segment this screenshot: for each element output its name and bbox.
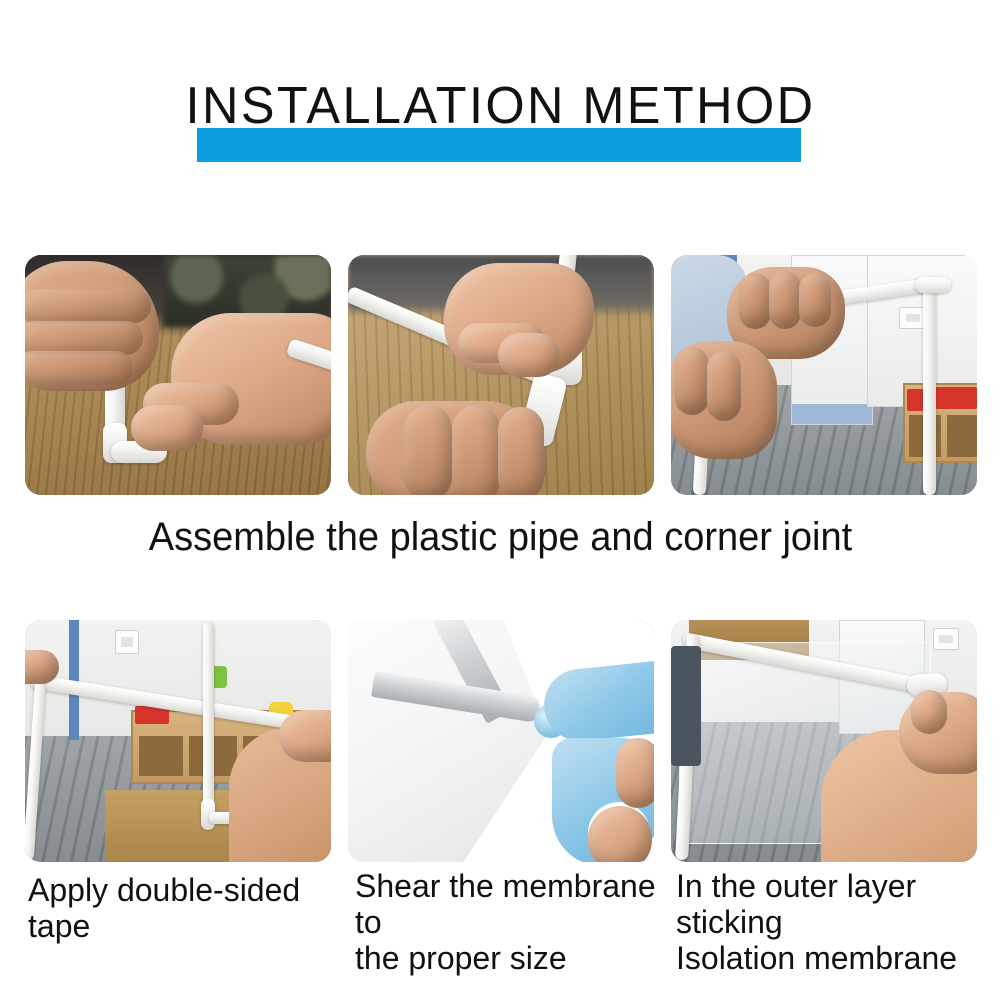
finger: [675, 347, 709, 415]
membrane-sheet: [348, 620, 548, 862]
cabinet-trim: [792, 404, 872, 424]
step-6-caption: In the outer layer sticking Isolation me…: [676, 868, 996, 976]
step-5-photo: [348, 620, 654, 862]
finger: [498, 407, 544, 495]
page-header: INSTALLATION METHOD: [0, 60, 1001, 180]
step-3-photo: [671, 255, 977, 495]
frame-vertical-post: [203, 622, 214, 810]
step-6-caption-line-1: In the outer layer sticking: [676, 868, 996, 940]
finger: [25, 351, 133, 385]
step-4-caption: Apply double-sided tape: [28, 872, 348, 944]
finger: [707, 351, 741, 421]
wall-socket: [115, 630, 139, 654]
step-5-caption-line-2: the proper size: [355, 940, 665, 976]
finger: [452, 405, 500, 495]
finger: [739, 273, 771, 329]
thumb: [588, 806, 652, 862]
right-hand: [279, 710, 331, 762]
step-5-caption-line-1: Shear the membrane to: [355, 868, 665, 940]
finger: [25, 289, 151, 323]
step-4-photo: [25, 620, 331, 862]
left-hand: [25, 650, 59, 684]
shelf-cell: [139, 736, 183, 776]
finger: [616, 738, 654, 808]
finger: [404, 405, 452, 495]
finger: [769, 271, 801, 329]
step-1-photo: [25, 255, 331, 495]
thumb: [911, 690, 947, 734]
dark-fabric: [671, 646, 701, 766]
shelf-cell: [947, 415, 977, 457]
page-title: INSTALLATION METHOD: [15, 60, 986, 152]
step-5-caption: Shear the membrane to the proper size: [355, 868, 665, 976]
thumb: [131, 405, 203, 451]
scissor-handle-upper: [541, 659, 654, 744]
step-4-caption-line-1: Apply double-sided tape: [28, 872, 348, 944]
frame-corner-joint: [915, 277, 951, 293]
frame-vertical-post: [923, 283, 936, 495]
wall-socket: [933, 628, 959, 650]
step-6-caption-line-2: Isolation membrane: [676, 940, 996, 976]
finger: [799, 273, 831, 327]
thumb: [498, 333, 560, 377]
step-row-1-caption: Assemble the plastic pipe and corner joi…: [25, 512, 976, 562]
red-storage-box: [935, 387, 977, 409]
step-6-photo: [671, 620, 977, 862]
finger: [25, 321, 143, 355]
step-2-photo: [348, 255, 654, 495]
